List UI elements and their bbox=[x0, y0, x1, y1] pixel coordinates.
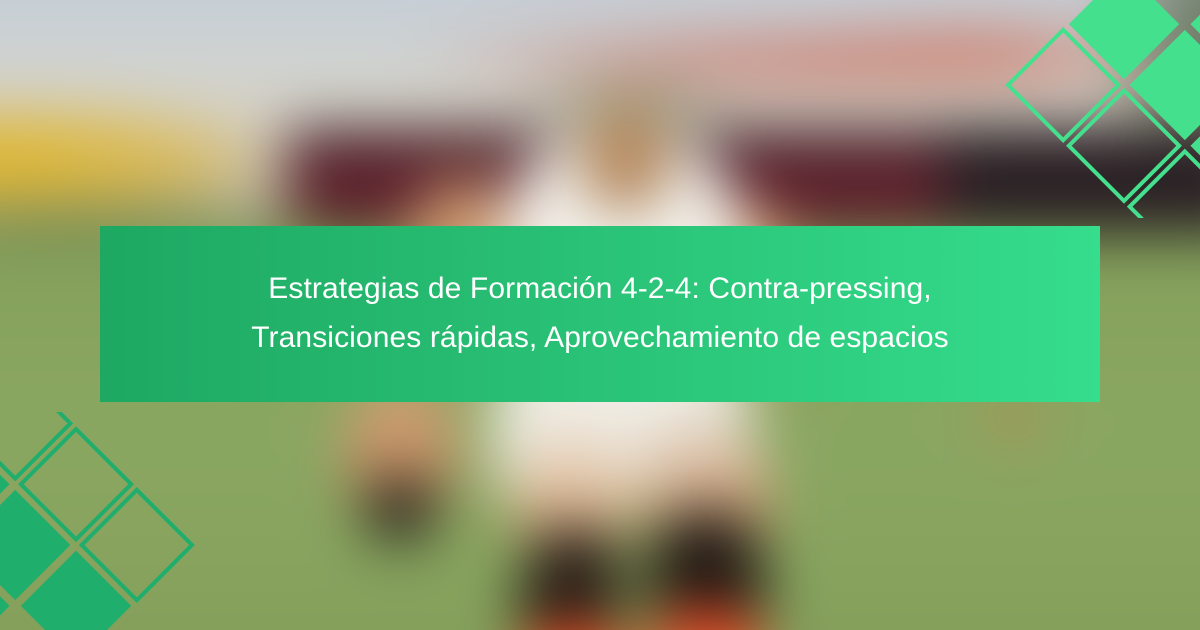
player-head bbox=[579, 104, 672, 209]
background-player-boot bbox=[365, 477, 436, 542]
headline-banner: Estrategias de Formación 4-2-4: Contra-p… bbox=[100, 226, 1100, 402]
page-title: Estrategias de Formación 4-2-4: Contra-p… bbox=[220, 265, 980, 362]
social-share-card: Estrategias de Formación 4-2-4: Contra-p… bbox=[0, 0, 1200, 630]
